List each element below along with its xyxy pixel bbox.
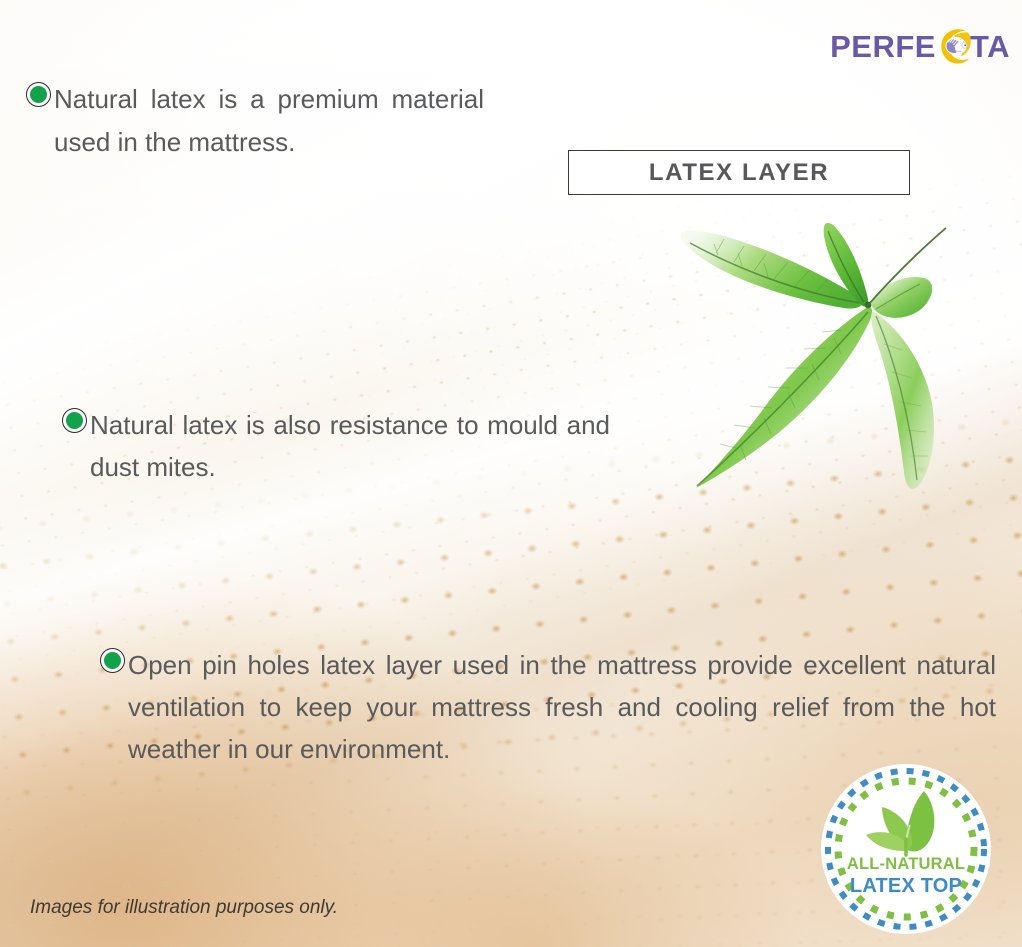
green-circle-bullet-icon bbox=[26, 82, 51, 107]
green-compound-leaf-photo bbox=[676, 216, 956, 511]
perfecta-logo: PERFE TA bbox=[815, 20, 1010, 72]
seal-line-2: LATEX TOP bbox=[820, 875, 992, 898]
logo-text-left: PERFE bbox=[830, 31, 936, 62]
bullet-text-3: Open pin holes latex layer used in the m… bbox=[128, 644, 996, 770]
logo-wordmark: PERFE TA bbox=[830, 26, 1010, 66]
latex-layer-title-box: LATEX LAYER bbox=[568, 150, 910, 195]
latex-layer-poster: PERFE TA LATEX LAYER bbox=[0, 0, 1022, 947]
bullet-item-3: Open pin holes latex layer used in the m… bbox=[100, 644, 1000, 770]
crescent-moon-sleeping-figure-icon bbox=[935, 26, 971, 66]
bullet-text-2: Natural latex is also resistance to moul… bbox=[90, 404, 610, 488]
three-leaves-icon bbox=[820, 763, 992, 935]
page-title: LATEX LAYER bbox=[649, 159, 829, 187]
seal-line-1: ALL-NATURAL bbox=[820, 855, 992, 874]
bullet-text-1: Natural latex is a premium material used… bbox=[54, 78, 484, 164]
bullet-item-1: Natural latex is a premium material used… bbox=[26, 78, 496, 164]
logo-text-right: TA bbox=[970, 31, 1010, 62]
disclaimer-text: Images for illustration purposes only. bbox=[30, 897, 338, 919]
green-circle-bullet-icon bbox=[100, 648, 125, 673]
green-circle-bullet-icon bbox=[62, 408, 87, 433]
bullet-item-2: Natural latex is also resistance to moul… bbox=[62, 404, 622, 488]
all-natural-latex-top-seal: ALL-NATURAL LATEX TOP bbox=[820, 763, 992, 935]
